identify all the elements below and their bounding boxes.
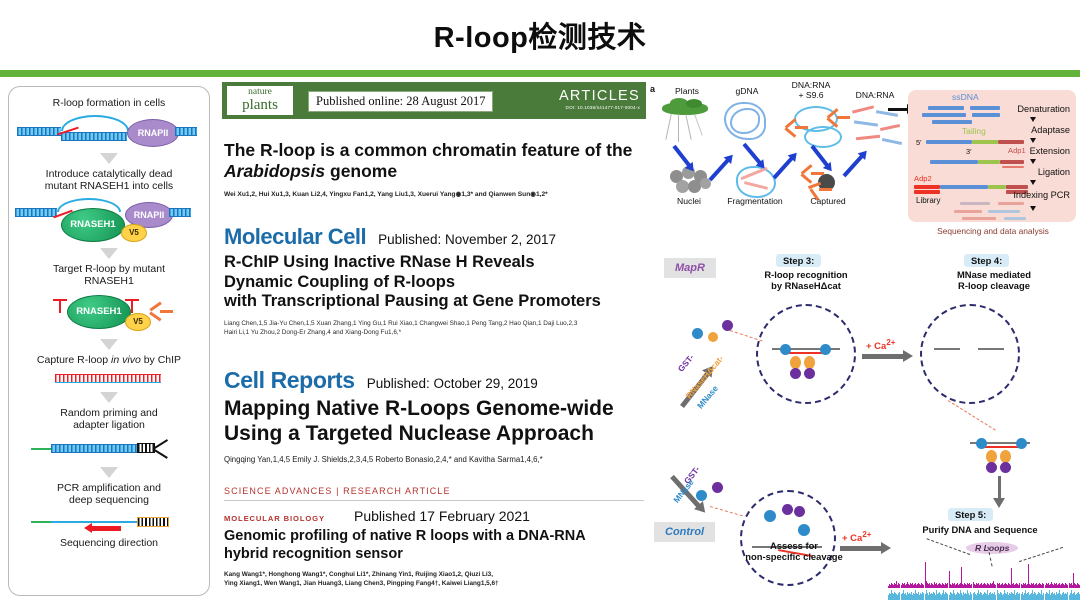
label-tailing: Tailing — [962, 126, 986, 136]
molecular-cell-published: Published: November 2, 2017 — [378, 232, 556, 247]
panel-mapr: MapR Control Step 3: R-loop recognition … — [648, 254, 1080, 598]
arrow-captured-dnarna — [843, 154, 865, 177]
paper-cell-reports: Cell Reports Published: October 29, 2019… — [224, 367, 644, 464]
step-arrow-3 — [1030, 159, 1036, 164]
rloop-diagram-1: RNAPII — [9, 113, 209, 149]
np-title-rest: genome — [325, 161, 397, 181]
sequencing-analysis-caption: Sequencing and data analysis — [910, 226, 1076, 236]
mc-authors-line1: Liang Chen,1,5 Jia-Yu Chen,1,5 Xuan Zhan… — [224, 320, 577, 327]
rloop-diagram-2: RNASE H1 RNAPII V5 — [9, 196, 209, 244]
mc-title-line2: Dynamic Coupling of R-loops — [224, 273, 455, 291]
rnase-label: RNASE — [70, 220, 103, 231]
step-arrow-1 — [1030, 117, 1036, 122]
arrow-gdna-fragmentation — [742, 143, 762, 165]
rloop-diagram-3: RNASE H1 V5 — [9, 291, 209, 335]
cell-reports-authors: Qingqing Yan,1,4,5 Emily J. Shields,2,3,… — [224, 455, 644, 464]
paper-molecular-cell: Molecular Cell Published: November 2, 20… — [224, 224, 644, 337]
flow-step-label-4: Capture R-loop in vivo by ChIP — [9, 354, 209, 367]
label-adp1: Adp1 — [1008, 146, 1026, 155]
rloops-annotation: R Loops — [966, 542, 1018, 554]
flow-step-label-6: PCR amplification and deep sequencing — [9, 482, 209, 507]
extension-primer — [1002, 166, 1024, 168]
arrow-fragmentation-s96 — [773, 156, 795, 179]
dnarna-line1: DNA:RNA — [792, 80, 831, 90]
nature-plants-logo: nature plants — [227, 86, 293, 115]
label-fragmentation: Fragmentation — [720, 196, 790, 206]
arrow-s96-captured — [810, 145, 829, 168]
step-adaptase: Adaptase — [1031, 125, 1070, 135]
section-articles: ARTICLES — [559, 88, 640, 104]
flow-arrow-5 — [100, 467, 118, 478]
label-gst: GST- — [676, 352, 696, 373]
library-frag-6 — [1004, 217, 1026, 220]
genome-track-control — [888, 588, 1080, 600]
science-advances-header: SCIENCE ADVANCES | RESEARCH ARTICLE — [224, 486, 644, 496]
random-primer — [31, 448, 51, 450]
ligation-adp2 — [914, 185, 940, 189]
capture-pre: Capture R-loop — [37, 354, 111, 366]
ssdna-strand-1 — [928, 106, 964, 110]
rloop-hybrid — [61, 132, 127, 141]
step-arrow-2 — [1030, 138, 1036, 143]
journal-name-molecular-cell: Molecular Cell — [224, 224, 366, 250]
adapter-fork — [153, 440, 169, 456]
step4-nucleus-circle — [920, 304, 1020, 404]
flow-step-label-3: Target R-loop by mutant RNASEH1 — [9, 263, 209, 288]
sa-title-line1: Genomic profiling of native R loops with… — [224, 528, 586, 544]
label-5prime: 5' — [916, 138, 922, 147]
pcr-dna — [51, 521, 137, 523]
nature-plants-band: nature plants Published online: 28 Augus… — [222, 82, 646, 119]
ca-label-1: + Ca2+ — [866, 338, 895, 352]
step3-text: R-loop recognition by RNaseHΔcat — [736, 269, 876, 291]
cleavage-dashed-arrow — [948, 400, 996, 431]
down-arrow-step5-head — [993, 498, 1005, 508]
red-tick-left — [59, 299, 61, 313]
library-frag-3 — [954, 210, 982, 213]
label-captured: Captured — [798, 196, 858, 206]
sa-meta-row: MOLECULAR BIOLOGY Published 17 February … — [224, 508, 644, 524]
arrow-into-library — [888, 108, 908, 111]
extension-dna — [930, 160, 978, 164]
captured-rna-ladder — [55, 374, 161, 382]
step-extension: Extension — [1030, 146, 1070, 156]
cell-reports-title: Mapping Native R-Loops Genome-wide Using… — [224, 396, 644, 446]
library-frag-1 — [960, 202, 990, 205]
step3-nucleus-circle — [756, 304, 856, 404]
slide-root: R-loop检测技术 R-loop formation in cells RNA… — [0, 0, 1080, 602]
label-dnarna-2: DNA:RNA — [846, 90, 904, 100]
rnase-label-3: RNASE — [76, 307, 109, 318]
dna-duplex-right — [175, 127, 197, 136]
label-plants: Plants — [660, 86, 714, 96]
fusion-entry-dashed-arrow — [730, 330, 763, 341]
capture-italic: in vivo — [111, 354, 141, 366]
journal-name-cell-reports: Cell Reports — [224, 367, 355, 394]
title-bar: R-loop检测技术 — [0, 0, 1080, 70]
cr-title-line1: Mapping Native R-Loops Genome-wide — [224, 397, 614, 420]
step-indexing-pcr: Indexing PCR — [1013, 190, 1070, 200]
np-title-italic: Arabidopsis — [224, 161, 325, 181]
ligation-dna — [51, 444, 137, 453]
ssdna-strand-3 — [922, 113, 966, 117]
ca-sup-2: 2+ — [862, 530, 871, 539]
label-dnarna-s96: ssDNA DNA:RNA + S9.6 — [778, 80, 844, 100]
science-advances-title: Genomic profiling of native R loops with… — [224, 528, 644, 563]
molecular-cell-authors: Liang Chen,1,5 Jia-Yu Chen,1,5 Xuan Zhan… — [224, 319, 644, 337]
assess-text: Assess for non-specific cleavage — [734, 540, 854, 562]
mc-title-line1: R-ChIP Using Inactive RNase H Reveals — [224, 253, 535, 271]
library-frag-4 — [988, 210, 1020, 213]
genome-track-mapr — [888, 562, 1080, 588]
step-denaturation: Denaturation — [1017, 104, 1070, 114]
ssdna-strand-4 — [972, 113, 1000, 117]
library-prep-box: ssDNA Tailing 5' 3' Adp1 Adp2 — [908, 90, 1076, 222]
control-dashed-arrow — [710, 506, 743, 516]
step3-badge: Step 3: — [776, 254, 821, 267]
dna-duplex-left-2 — [15, 208, 57, 217]
step4-badge: Step 4: — [964, 254, 1009, 267]
page-title: R-loop检测技术 — [434, 14, 647, 56]
cr-title-line2: Using a Targeted Nuclease Approach — [224, 422, 594, 445]
sequencing-direction-arrow — [91, 526, 121, 531]
ssdna-strand-5 — [932, 120, 972, 124]
title-divider — [0, 70, 1080, 77]
paper-science-advances: SCIENCE ADVANCES | RESEARCH ARTICLE MOLE… — [224, 486, 644, 588]
logo-line-plants: plants — [242, 98, 278, 113]
label-nuclei: Nuclei — [662, 196, 716, 206]
dna-duplex-right-2 — [169, 208, 191, 217]
library-frag-2 — [998, 202, 1024, 205]
arrow-nuclei-gdna — [709, 158, 731, 181]
pcr-product-diagram — [9, 510, 209, 534]
ca-text-1: + Ca — [866, 341, 886, 352]
sa-header-main: SCIENCE ADVANCES — [224, 486, 332, 496]
flow-arrow-3 — [100, 339, 118, 350]
capture-post: by ChIP — [141, 354, 181, 366]
flow-arrow-2 — [100, 248, 118, 259]
extension-adp — [1000, 160, 1024, 164]
pcr-index-block — [137, 517, 169, 527]
pcr-primer — [31, 521, 51, 523]
sa-discipline: MOLECULAR BIOLOGY — [224, 514, 354, 523]
ssdna-strand-2 — [970, 106, 1000, 110]
rchip-flow: R-loop formation in cells RNAPII Introdu… — [9, 87, 209, 550]
flow-arrow-4 — [100, 392, 118, 403]
step-arrow-5 — [1030, 206, 1036, 211]
nature-plants-published: Published online: 28 August 2017 — [308, 91, 493, 112]
np-title-line1: The R-loop is a common chromatin feature… — [224, 140, 632, 160]
ligation-dna — [940, 185, 988, 189]
flow-step-label-1: R-loop formation in cells — [9, 97, 209, 110]
label-ssdna: ssDNA — [952, 92, 979, 102]
tailing-adp1 — [998, 140, 1024, 144]
mc-authors-line2: Hairi Li,1 Yu Zhou,2 Dong-Er Zhang,4 and… — [224, 329, 401, 336]
control-tag: Control — [654, 522, 715, 542]
tailing-tail — [972, 140, 998, 144]
captured-hybrid-diagram — [9, 370, 209, 388]
tailing-dna — [926, 140, 972, 144]
v5-tag-2: V5 — [121, 224, 147, 242]
panel-a-ssdrip: a Plants gDNA ssDNA DNA:RNA + S9.6 DNA:R… — [648, 82, 1080, 246]
label-gdna: gDNA — [720, 86, 774, 96]
ca-sup-1: 2+ — [886, 338, 895, 347]
molecular-cell-title: R-ChIP Using Inactive RNase H Reveals Dy… — [224, 253, 644, 312]
red-tick-right — [131, 299, 133, 313]
rnaseh1-ellipse-2: RNASE H1 — [61, 208, 125, 242]
ligation-adp1b — [1006, 185, 1028, 189]
left-panel-rchip-workflow: R-loop formation in cells RNAPII Introdu… — [8, 86, 210, 596]
h1-label-3: H1 — [110, 307, 122, 318]
ligation-adp2-b — [914, 190, 940, 194]
dna-duplex-left — [17, 127, 61, 136]
rna-cap-right — [125, 299, 139, 301]
v5-tag-3: V5 — [125, 313, 151, 331]
label-adp2: Adp2 — [914, 174, 932, 183]
label-library: Library — [916, 196, 940, 205]
step-arrow-4 — [1030, 180, 1036, 185]
step4-text: MNase mediated R-loop cleavage — [924, 269, 1064, 291]
sa-authors-line1: Kang Wang1*, Honghong Wang1*, Conghui Li… — [224, 571, 493, 578]
label-3prime: 3' — [966, 147, 972, 156]
rna-cap-left — [53, 299, 67, 301]
flow-step-label-5: Random priming and adapter ligation — [9, 407, 209, 432]
dnarna-line2: + S9.6 — [798, 90, 823, 100]
molecular-cell-header: Molecular Cell Published: November 2, 20… — [224, 224, 644, 250]
sa-header-sep: | — [332, 486, 343, 496]
sa-divider — [224, 500, 644, 501]
step-ligation: Ligation — [1038, 167, 1070, 177]
step5-badge: Step 5: — [948, 508, 993, 521]
science-advances-authors: Kang Wang1*, Honghong Wang1*, Conghui Li… — [224, 570, 644, 588]
sa-published: Published 17 February 2021 — [354, 508, 530, 524]
flow-step-label-2: Introduce catalytically dead mutant RNAS… — [9, 168, 209, 193]
rloop-pointer-3 — [1019, 547, 1063, 562]
middle-panel-publications: nature plants Published online: 28 Augus… — [222, 82, 646, 598]
h1-label: H1 — [104, 220, 116, 231]
mapr-tag: MapR — [664, 258, 716, 278]
mc-title-line3: with Transcriptional Pausing at Gene Pro… — [224, 292, 601, 310]
library-frag-5 — [962, 217, 996, 220]
rnaseh1-ellipse-3: RNASE H1 — [67, 295, 131, 329]
cell-reports-header: Cell Reports Published: October 29, 2019 — [224, 367, 644, 394]
sa-title-line2: hybrid recognition sensor — [224, 546, 403, 562]
ligation-tail — [988, 185, 1006, 189]
sequencing-direction-label: Sequencing direction — [9, 537, 209, 550]
right-panel-diagrams: a Plants gDNA ssDNA DNA:RNA + S9.6 DNA:R… — [648, 82, 1080, 598]
cell-reports-published: Published: October 29, 2019 — [367, 376, 538, 391]
panel-a-tag: a — [650, 84, 655, 94]
control-nucleus-circle — [740, 490, 836, 586]
rnapii-ellipse: RNAPII — [127, 119, 179, 147]
nature-plants-section: ARTICLES DOI: 10.1038/s41477-017-0004-x — [559, 88, 640, 110]
arrow-plants-nuclei — [672, 145, 691, 168]
ca-arrow-1 — [862, 354, 906, 359]
extension-tail — [978, 160, 1000, 164]
rloop-pointer-1 — [927, 538, 971, 555]
down-arrow-step5-shaft — [998, 476, 1001, 500]
sa-authors-line2: Ying Xiang1, Wen Wang1, Jian Huang3, Lia… — [224, 580, 499, 587]
adapter-ligation-diagram — [9, 435, 209, 463]
flow-arrow-1 — [100, 153, 118, 164]
doi-text: DOI: 10.1038/s41477-017-0004-x — [559, 105, 640, 110]
nature-plants-title: The R-loop is a common chromatin feature… — [224, 140, 640, 182]
sa-header-sub: RESEARCH ARTICLE — [343, 486, 450, 496]
nature-plants-authors: Wei Xu1,2, Hui Xu1,3, Kuan Li2,4, Yingxu… — [224, 190, 644, 199]
step5-text: Purify DNA and Sequence — [890, 524, 1070, 535]
